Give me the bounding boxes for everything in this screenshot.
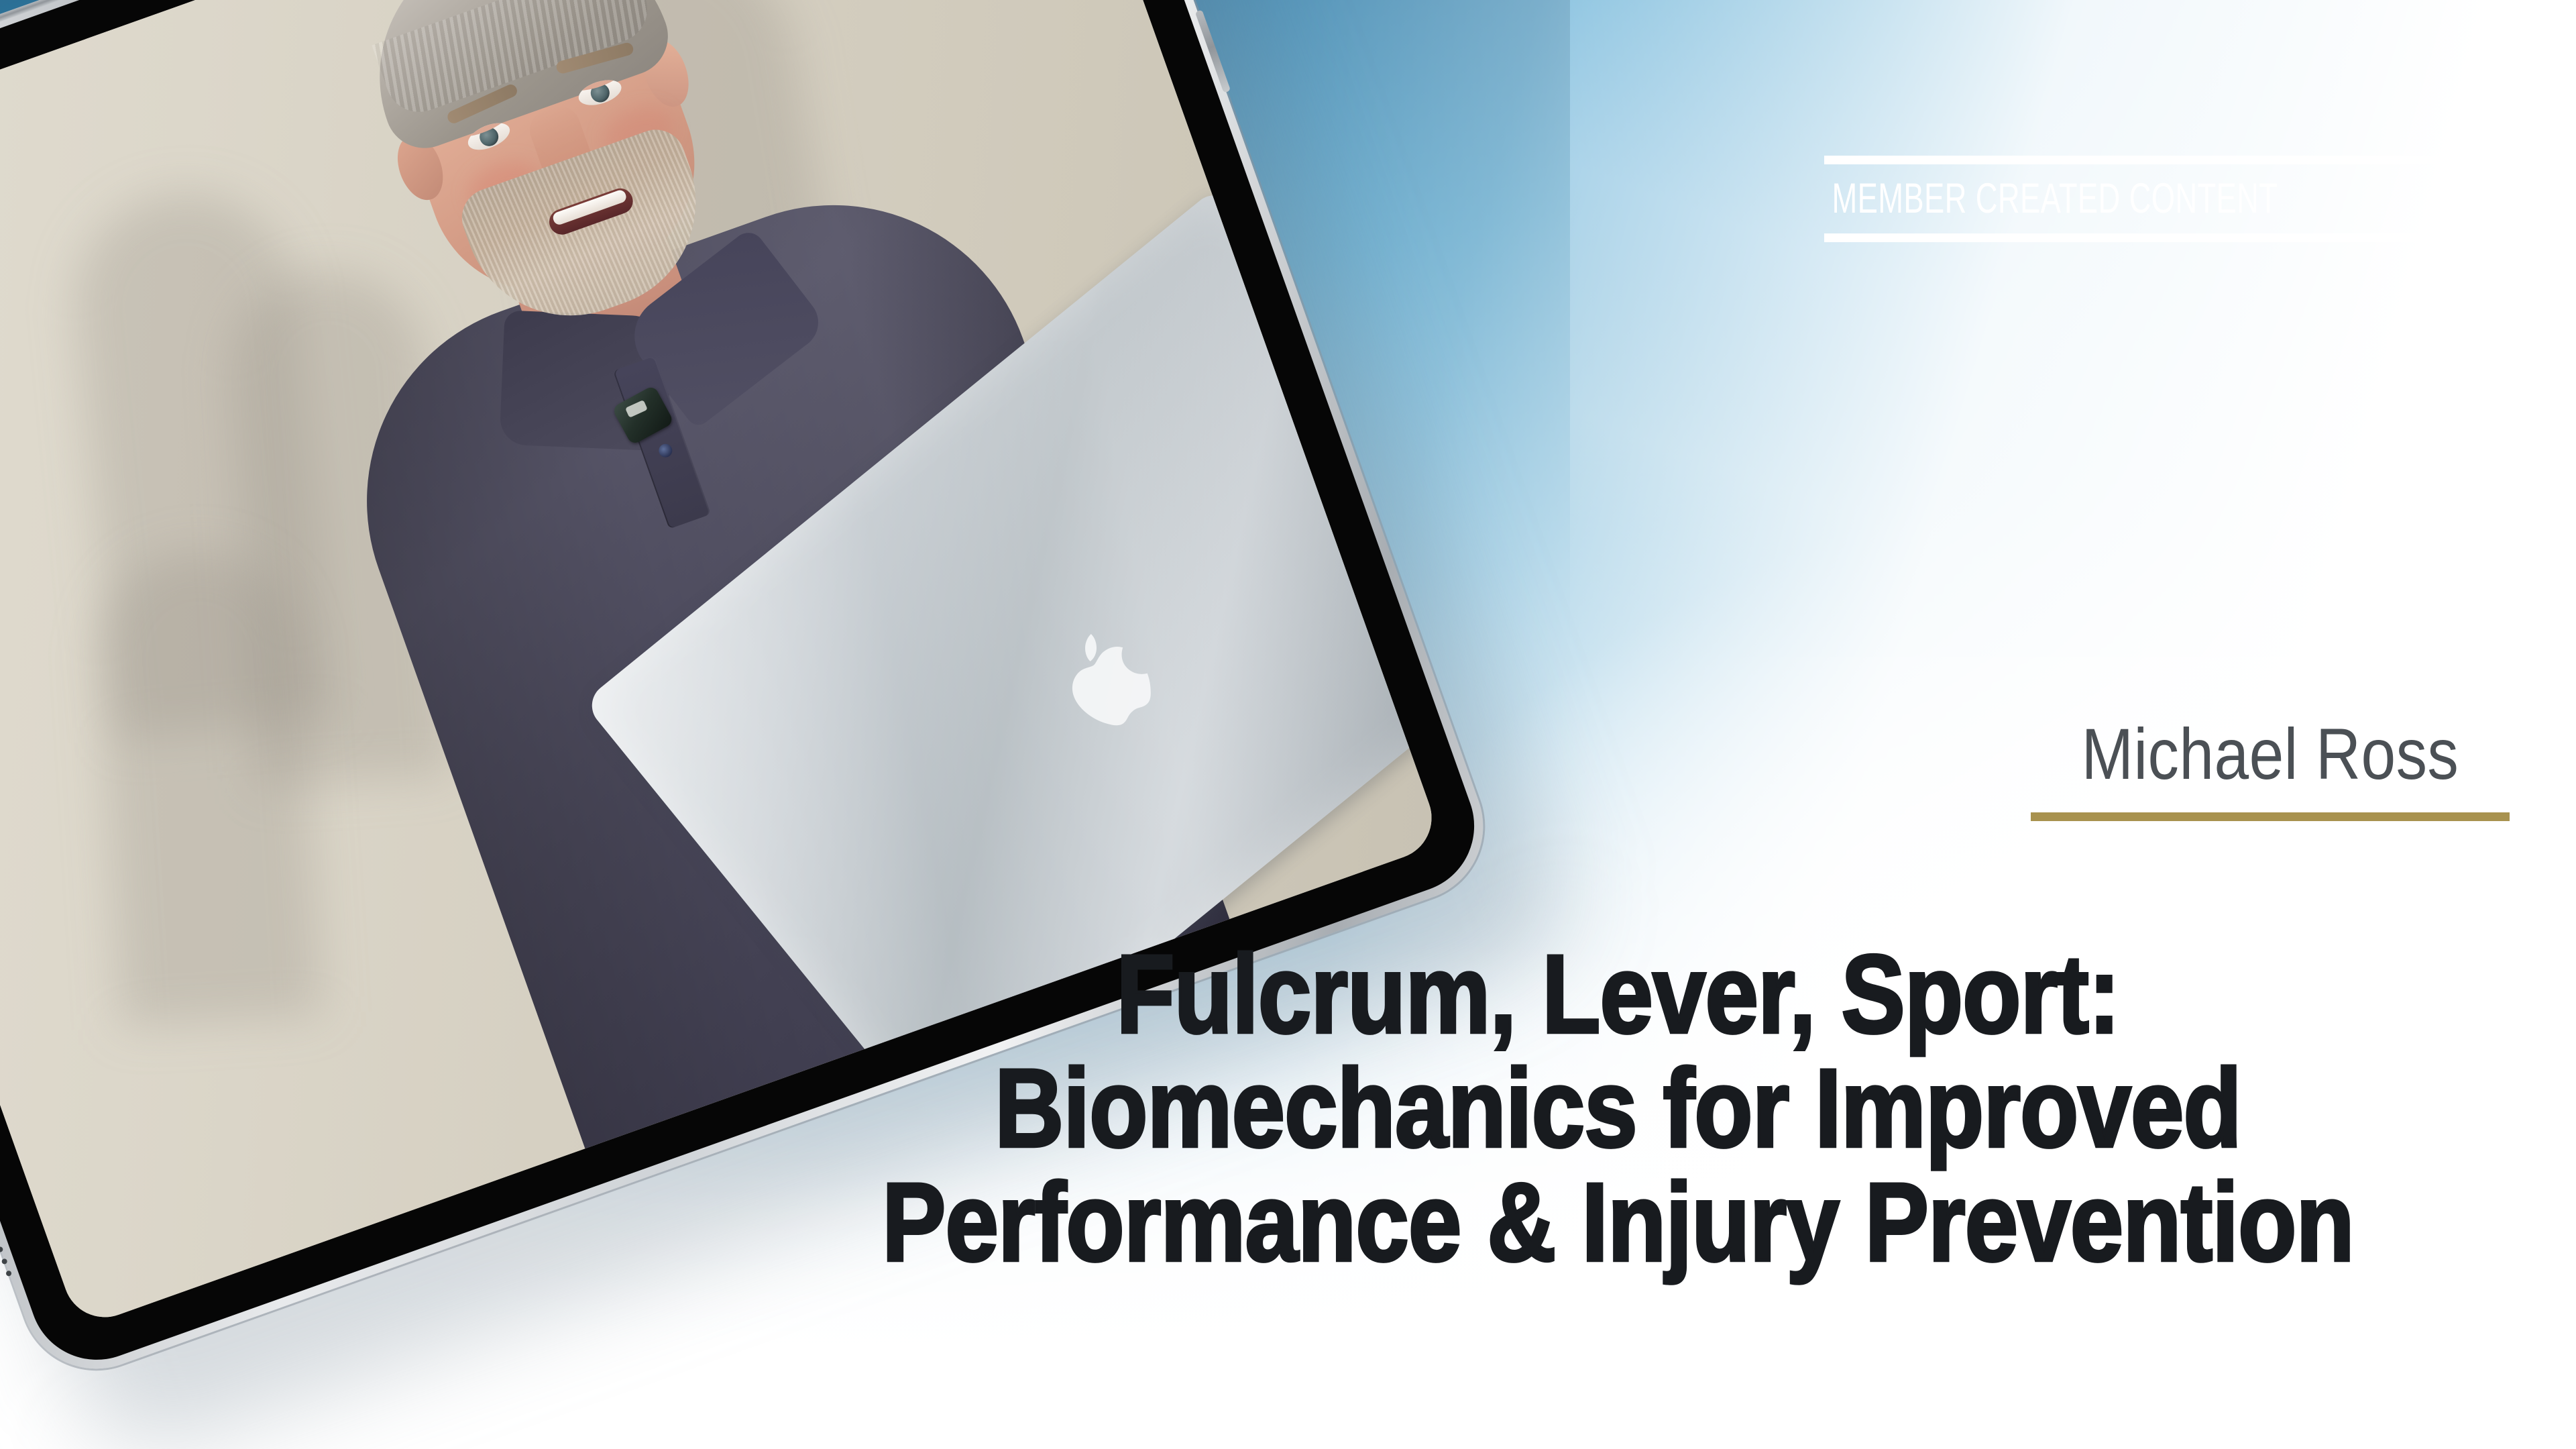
badge-rule-bottom [1824,233,2480,242]
title-line-2: Biomechanics for Improved [879,1052,2358,1166]
badge-label: MEMBER CREATED CONTENT [1824,164,2480,233]
author-block: Michael Ross [2031,715,2510,821]
title-line-3: Performance & Injury Prevention [879,1166,2358,1280]
title-line-1: Fulcrum, Lever, Sport: [879,938,2358,1052]
badge-rule-top [1824,156,2480,164]
wall-shadow [92,545,322,1026]
author-name: Michael Ross [2064,715,2476,794]
author-underline [2031,812,2510,821]
member-created-content-badge: MEMBER CREATED CONTENT [1824,156,2480,242]
page-title: Fulcrum, Lever, Sport: Biomechanics for … [758,938,2478,1280]
